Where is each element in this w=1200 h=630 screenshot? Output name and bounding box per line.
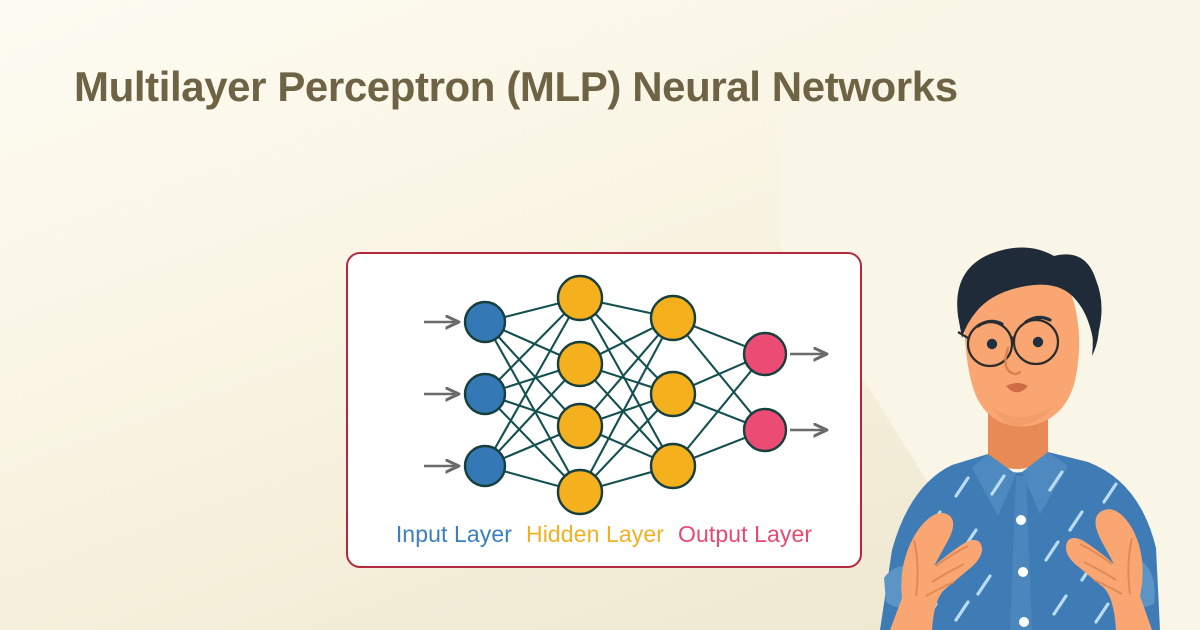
legend-hidden-layer: Hidden Layer: [526, 521, 664, 548]
hidden1-node-4[interactable]: [558, 470, 602, 514]
legend-output-layer: Output Layer: [678, 521, 812, 548]
hidden2-node-3[interactable]: [651, 444, 695, 488]
output-node-1[interactable]: [744, 333, 786, 375]
diagram-legend: Input Layer Hidden Layer Output Layer: [348, 521, 860, 548]
page-title: Multilayer Perceptron (MLP) Neural Netwo…: [74, 63, 958, 111]
hidden-layer-1-nodes: [558, 276, 602, 514]
hidden2-node-2[interactable]: [651, 372, 695, 416]
input-arrows: [424, 322, 458, 466]
hidden1-node-2[interactable]: [558, 342, 602, 386]
input-node-1[interactable]: [465, 302, 505, 342]
output-layer-nodes: [744, 333, 786, 451]
output-node-2[interactable]: [744, 409, 786, 451]
output-arrows: [790, 354, 826, 430]
input-layer-nodes: [465, 302, 505, 486]
hidden1-node-3[interactable]: [558, 404, 602, 448]
hidden-layer-2-nodes: [651, 296, 695, 488]
hidden2-node-1[interactable]: [651, 296, 695, 340]
hidden1-node-1[interactable]: [558, 276, 602, 320]
input-node-3[interactable]: [465, 446, 505, 486]
legend-input-layer: Input Layer: [396, 521, 512, 548]
input-node-2[interactable]: [465, 374, 505, 414]
person-illustration: [840, 230, 1200, 630]
neural-network-diagram-card: Input Layer Hidden Layer Output Layer: [346, 252, 862, 568]
